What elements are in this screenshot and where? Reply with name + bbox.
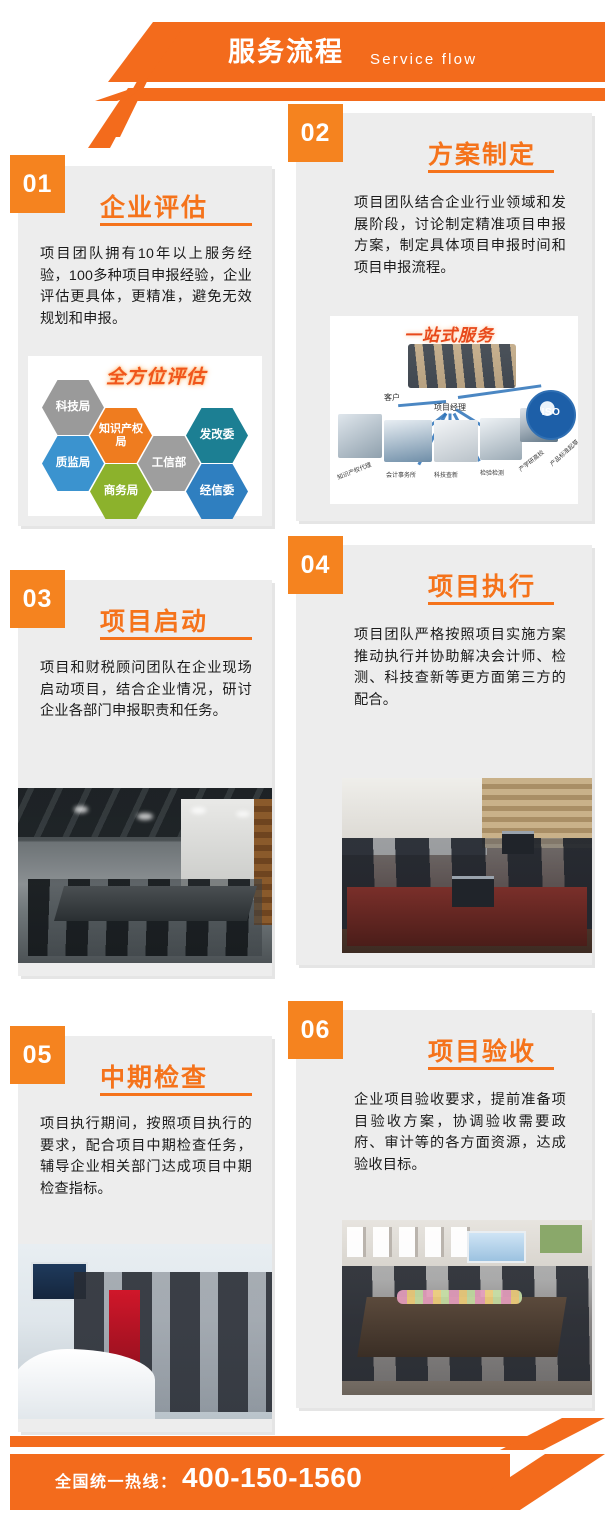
photo-laptop (502, 831, 534, 854)
onestop-node-label-ip: 知识产权代理 (336, 460, 373, 482)
hex-node-keji: 科技局 (42, 380, 104, 435)
step-card-01-title: 企业评估 (100, 188, 208, 224)
onestop-iso-badge: ISO (526, 390, 576, 440)
step-card-03-title: 项目启动 (100, 602, 208, 638)
photo-light (236, 811, 250, 817)
step-badge-06: 06 (288, 1001, 343, 1059)
page-subtitle: Service flow (370, 40, 477, 80)
step-card-06-body: 企业项目验收要求，提前准备项目验收方案，协调验收需要政府、审计等的各方面资源，达… (354, 1090, 566, 1176)
onestop-node-search (434, 420, 478, 462)
photo-laptop (452, 876, 494, 907)
hotline-label: 全国统一热线： (55, 1468, 178, 1492)
step-card-02-title-rule (428, 170, 554, 173)
step-card-02-body: 项目团队结合企业行业领域和发展阶段，讨论制定精准项目申报方案，制定具体项目申报时… (354, 193, 566, 279)
step-card-03-body: 项目和财税顾问团队在企业现场启动项目，结合企业情况，研讨企业各部门申报职责和任务… (40, 658, 252, 723)
hex-node-label: 工信部 (152, 457, 187, 470)
hex-diagram: 全方位评估 科技局 知识产权局 质监局 工信部 商务局 发改委 经信委 (28, 356, 262, 516)
step-card-06-photo (342, 1220, 592, 1395)
onestop-service-diagram: 一站式服务 客户 项目经理 ISO 知识产权代理 会计事务所 (330, 316, 578, 504)
hex-node-label: 发改委 (200, 429, 235, 442)
step-card-05-photo (18, 1244, 272, 1419)
step-card-05-title-rule (100, 1093, 252, 1096)
step-badge-03: 03 (10, 570, 65, 628)
photo-flowers (397, 1290, 522, 1304)
page-header: 服务流程 Service flow (0, 0, 605, 108)
step-card-04: 项目执行 项目团队严格按照项目实施方案推动执行并协助解决会计师、检测、科技查新等… (296, 545, 592, 965)
hex-node-zhijian: 质监局 (42, 436, 104, 491)
step-card-02-title: 方案制定 (428, 135, 536, 171)
hex-node-label: 商务局 (104, 485, 139, 498)
photo-certificate-frames (347, 1227, 477, 1257)
onestop-node-label-testing: 检验检测 (480, 468, 504, 477)
step-badge-04-number: 04 (301, 551, 331, 580)
service-flow-infographic: 服务流程 Service flow 企业评估 项目团队拥有10年以上服务经验，1… (0, 0, 605, 1538)
step-badge-05: 05 (10, 1026, 65, 1084)
photo-projector-screen (467, 1231, 526, 1263)
page-footer: 全国统一热线： 400-150-1560 (0, 1398, 605, 1538)
step-card-01: 企业评估 项目团队拥有10年以上服务经验，100多种项目申报经验，企业评估更具体… (18, 166, 272, 526)
hex-node-jingxin: 经信委 (186, 464, 248, 519)
onestop-node-accounting (384, 420, 432, 462)
step-card-03-title-rule (100, 637, 252, 640)
step-badge-04: 04 (288, 536, 343, 594)
photo-light (74, 806, 88, 813)
step-badge-01-number: 01 (23, 170, 53, 199)
step-badge-02-number: 02 (301, 119, 331, 148)
step-card-05-body: 项目执行期间，按照项目执行的要求，配合项目中期检查任务，辅导企业相关部门达成项目… (40, 1114, 252, 1200)
onestop-node-ip (338, 414, 382, 458)
page-title: 服务流程 (228, 30, 344, 74)
hex-node-fagai: 发改委 (186, 408, 248, 463)
hex-node-zscq: 知识产权局 (90, 408, 152, 463)
step-card-06-title-rule (428, 1067, 554, 1070)
step-badge-05-number: 05 (23, 1041, 53, 1070)
hex-node-gongxin: 工信部 (138, 436, 200, 491)
step-card-04-body: 项目团队严格按照项目实施方案推动执行并协助解决会计师、检测、科技查新等更方面第三… (354, 625, 566, 711)
step-badge-01: 01 (10, 155, 65, 213)
hex-node-label: 知识产权局 (90, 423, 152, 448)
onestop-hero-people (408, 344, 516, 388)
step-card-03: 项目启动 项目和财税顾问团队在企业现场启动项目，结合企业情况，研讨企业各部门申报… (18, 580, 272, 976)
hex-node-shangwu: 商务局 (90, 464, 152, 519)
header-stripe (125, 88, 605, 101)
onestop-iso-badge-text: ISO (528, 407, 574, 418)
step-card-02: 方案制定 项目团队结合企业行业领域和发展阶段，讨论制定精准项目申报方案，制定具体… (296, 113, 592, 521)
onestop-node-label-search: 科技查新 (434, 470, 458, 479)
onestop-hero-photo (408, 344, 516, 388)
step-card-05-title: 中期检查 (100, 1058, 208, 1094)
footer-stripe (10, 1436, 530, 1447)
step-card-06: 项目验收 企业项目验收要求，提前准备项目验收方案，协调验收需要政府、审计等的各方… (296, 1010, 592, 1408)
step-card-01-title-rule (100, 223, 252, 226)
step-card-01-body: 项目团队拥有10年以上服务经验，100多种项目申报经验，企业评估更具体，更精准，… (40, 244, 252, 330)
step-card-06-title: 项目验收 (428, 1032, 536, 1068)
hotline-number[interactable]: 400-150-1560 (182, 1462, 362, 1494)
hex-diagram-title: 全方位评估 (106, 362, 206, 389)
onestop-title: 一站式服务 (404, 321, 494, 346)
step-card-03-photo (18, 788, 272, 963)
photo-table (54, 886, 257, 921)
hex-node-label: 质监局 (56, 457, 91, 470)
onestop-node-testing (480, 418, 522, 460)
photo-green-board (540, 1225, 583, 1253)
onestop-node-label-accounting: 会计事务所 (386, 470, 416, 479)
step-card-04-title-rule (428, 602, 554, 605)
onestop-client-label: 客户 (384, 392, 400, 403)
step-badge-02: 02 (288, 104, 343, 162)
step-badge-03-number: 03 (23, 585, 53, 614)
photo-table (357, 1297, 566, 1357)
step-card-04-title: 项目执行 (428, 567, 536, 603)
step-card-05: 中期检查 项目执行期间，按照项目执行的要求，配合项目中期检查任务，辅导企业相关部… (18, 1036, 272, 1432)
footer-stripe-diagonal (500, 1418, 605, 1450)
step-badge-06-number: 06 (301, 1016, 331, 1045)
hex-node-label: 经信委 (200, 485, 235, 498)
hex-node-label: 科技局 (56, 401, 91, 414)
step-card-04-photo (342, 778, 592, 953)
photo-light (137, 813, 153, 820)
